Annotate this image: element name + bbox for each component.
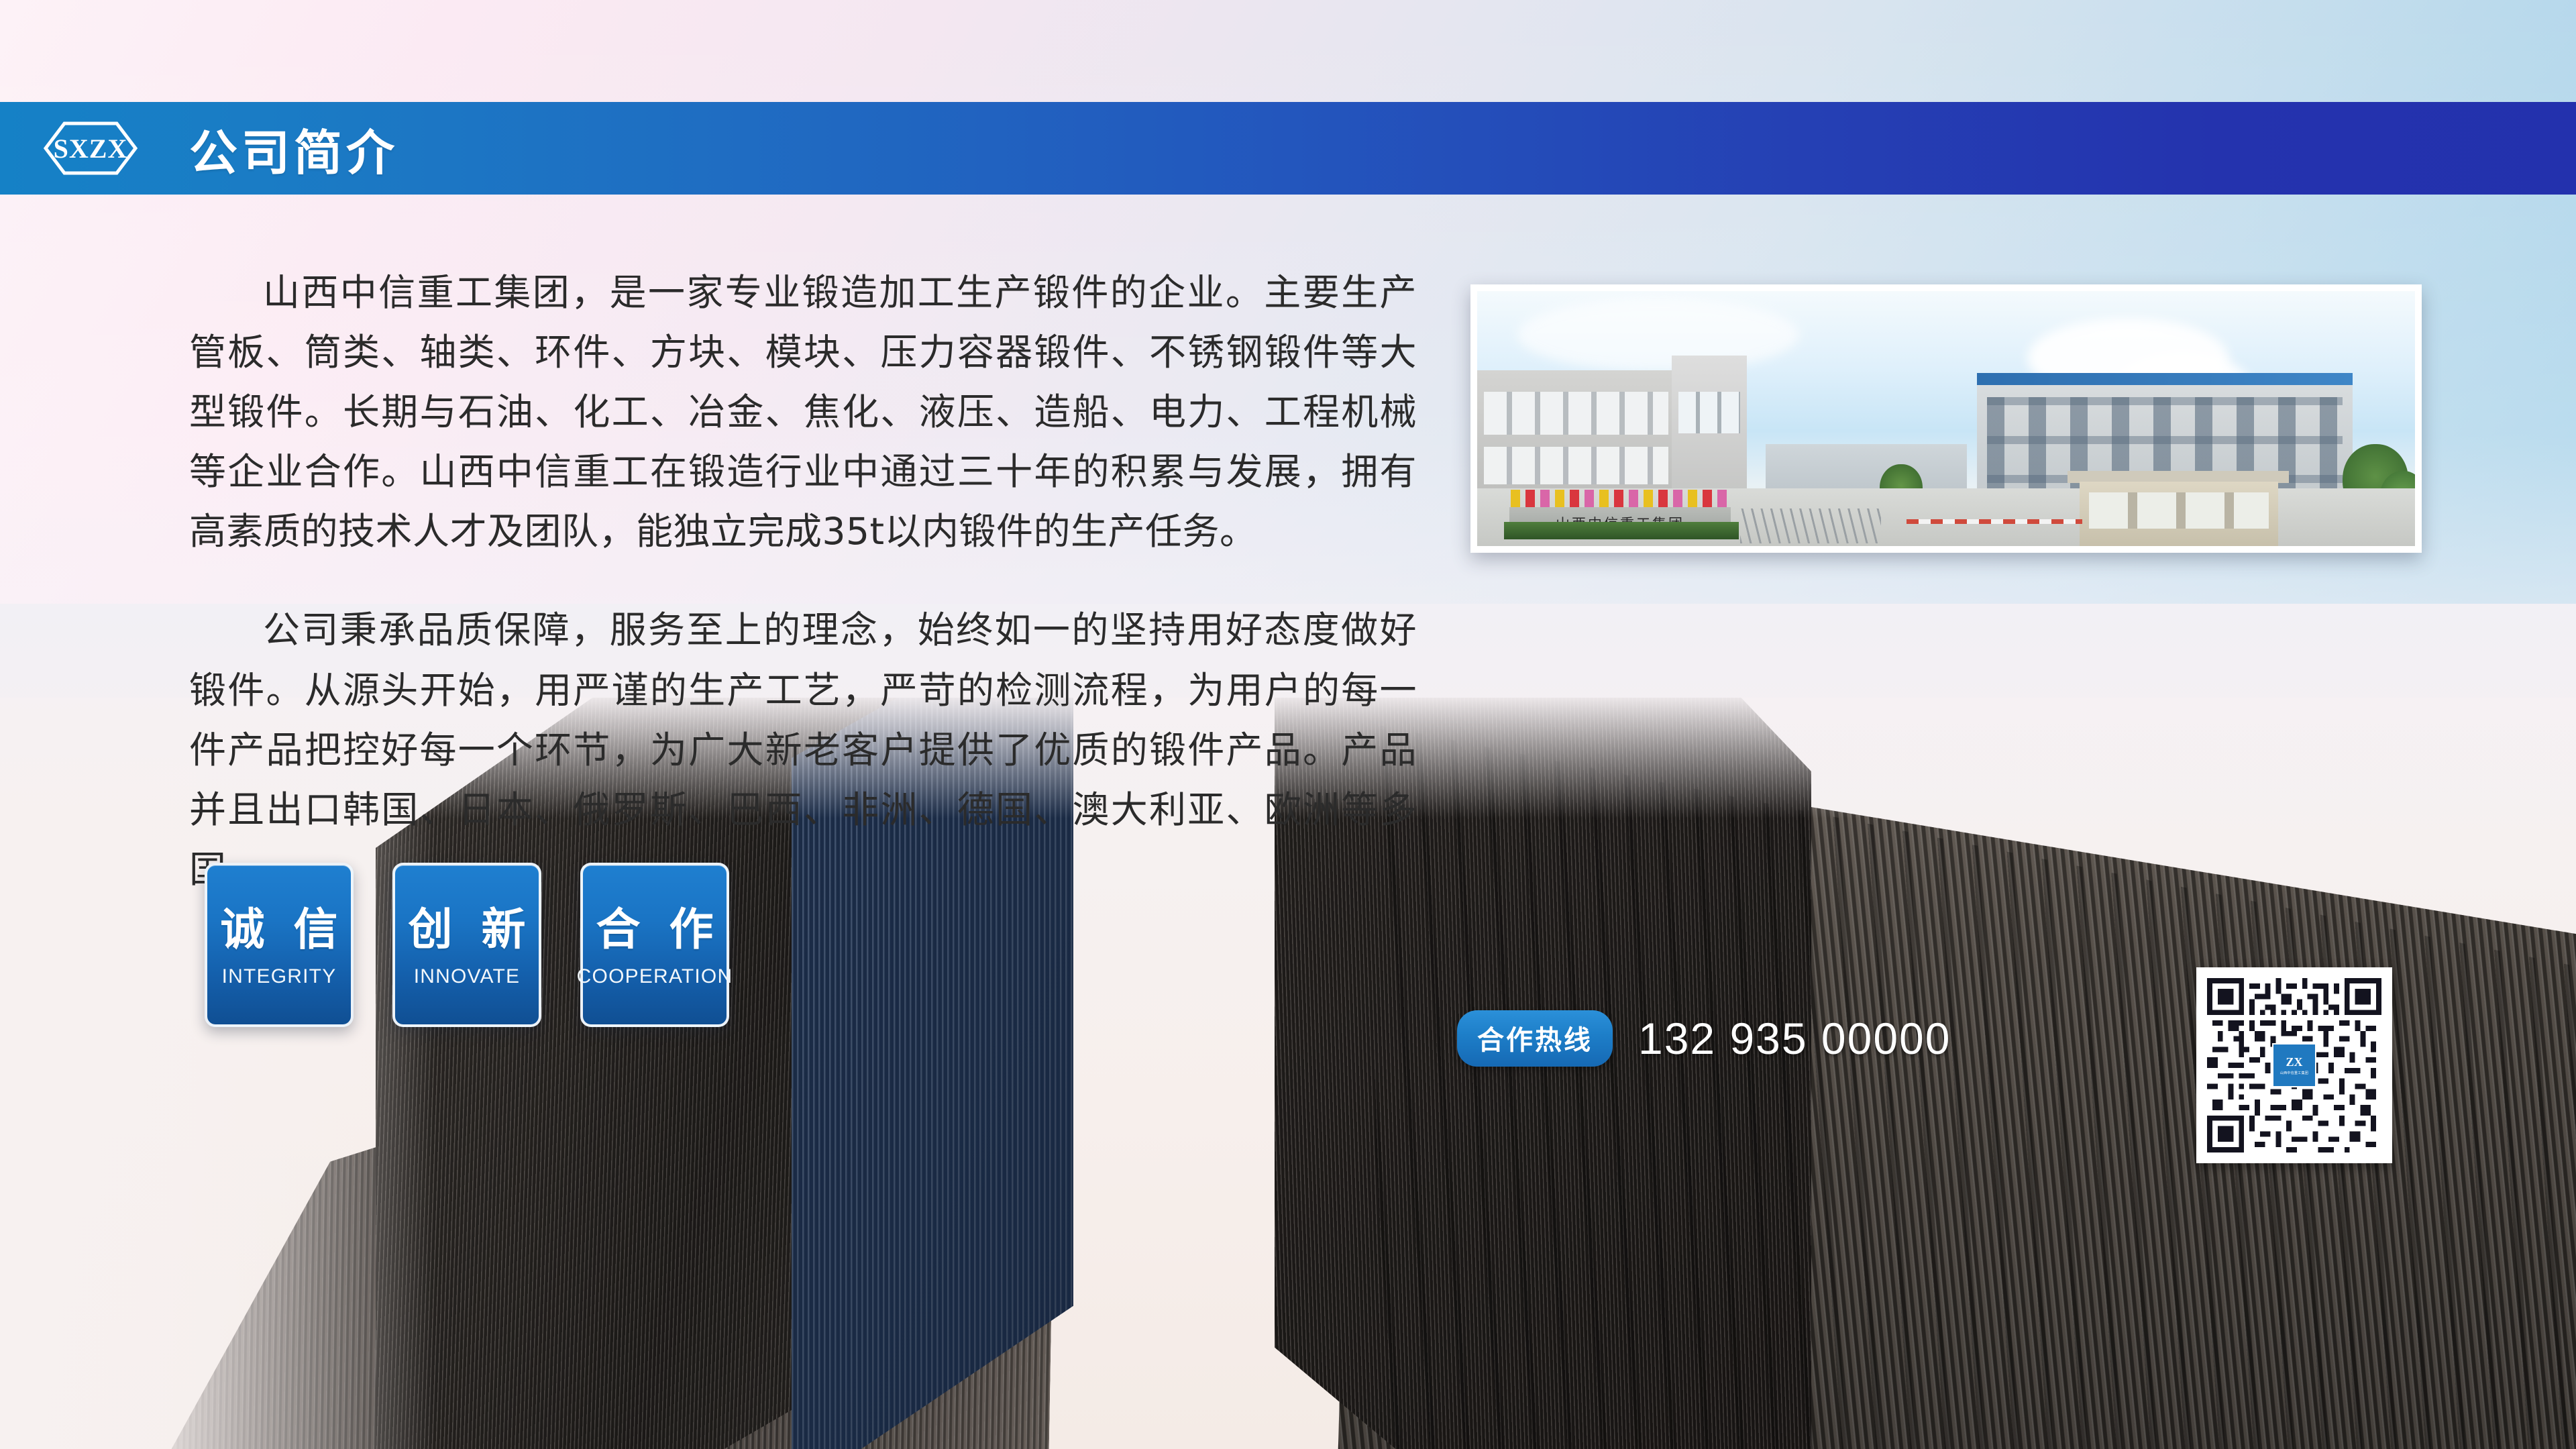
qr-code[interactable]: ZX 山西中信重工集团 [2196, 967, 2392, 1163]
photo-sliding-gate [1740, 508, 1881, 543]
value-badge-innovate[interactable]: 创 新 INNOVATE [392, 863, 541, 1027]
value-badge-en-label: INNOVATE [414, 965, 521, 988]
factory-photo-frame: 山西中信重工集团 [1470, 284, 2422, 553]
factory-photo-image: 山西中信重工集团 [1477, 291, 2415, 546]
hotline-block: 合作热线 132 935 00000 [1457, 1010, 1951, 1067]
sxzx-logo-label: SXZX [54, 133, 128, 164]
photo-gate-house-windows [2089, 492, 2269, 529]
photo-flags [1511, 490, 1732, 507]
value-badge-cooperation[interactable]: 合 作 COOPERATION [580, 863, 729, 1027]
sxzx-logo: SXZX [40, 119, 141, 177]
photo-hedge [1504, 522, 1739, 539]
value-badge-cn-label: 诚 信 [214, 906, 345, 953]
qr-code-matrix: ZX 山西中信重工集团 [2207, 978, 2381, 1152]
photo-building-left-windows [1484, 392, 1668, 435]
photo-building-left-windows3 [1678, 392, 1740, 433]
photo-barrier-gate [1907, 519, 2082, 524]
value-badge-integrity[interactable]: 诚 信 INTEGRITY [205, 863, 354, 1027]
hotline-phone-number[interactable]: 132 935 00000 [1638, 1013, 1951, 1064]
hotline-label-pill: 合作热线 [1457, 1010, 1613, 1067]
section-header-bar: SXZX 公司简介 [0, 102, 2576, 195]
company-profile-text: 山西中信重工集团，是一家专业锻造加工生产锻件的企业。主要生产管板、筒类、轴类、环… [189, 263, 1417, 900]
qr-center-logo: ZX 山西中信重工集团 [2272, 1043, 2316, 1087]
value-badge-en-label: COOPERATION [577, 965, 733, 988]
value-badge-cn-label: 创 新 [402, 906, 533, 953]
photo-cloud [1517, 298, 1799, 372]
slide-root: SXZX 公司简介 山西中信重工集团，是一家专业锻造加工生产锻件的企业。主要生产… [0, 0, 2576, 1449]
value-badge-cn-label: 合 作 [590, 906, 720, 953]
photo-building-left-windows2 [1484, 447, 1668, 484]
qr-logo-subtext: 山西中信重工集团 [2280, 1071, 2308, 1075]
profile-paragraph-1: 山西中信重工集团，是一家专业锻造加工生产锻件的企业。主要生产管板、筒类、轴类、环… [189, 263, 1417, 561]
page-title: 公司简介 [189, 113, 398, 184]
core-values-badge-group: 诚 信 INTEGRITY 创 新 INNOVATE 合 作 COOPERATI… [205, 863, 729, 1027]
qr-logo-initials: ZX [2286, 1056, 2302, 1068]
profile-paragraph-2: 公司秉承品质保障，服务至上的理念，始终如一的坚持用好态度做好锻件。从源头开始，用… [189, 600, 1417, 899]
value-badge-en-label: INTEGRITY [222, 965, 337, 988]
